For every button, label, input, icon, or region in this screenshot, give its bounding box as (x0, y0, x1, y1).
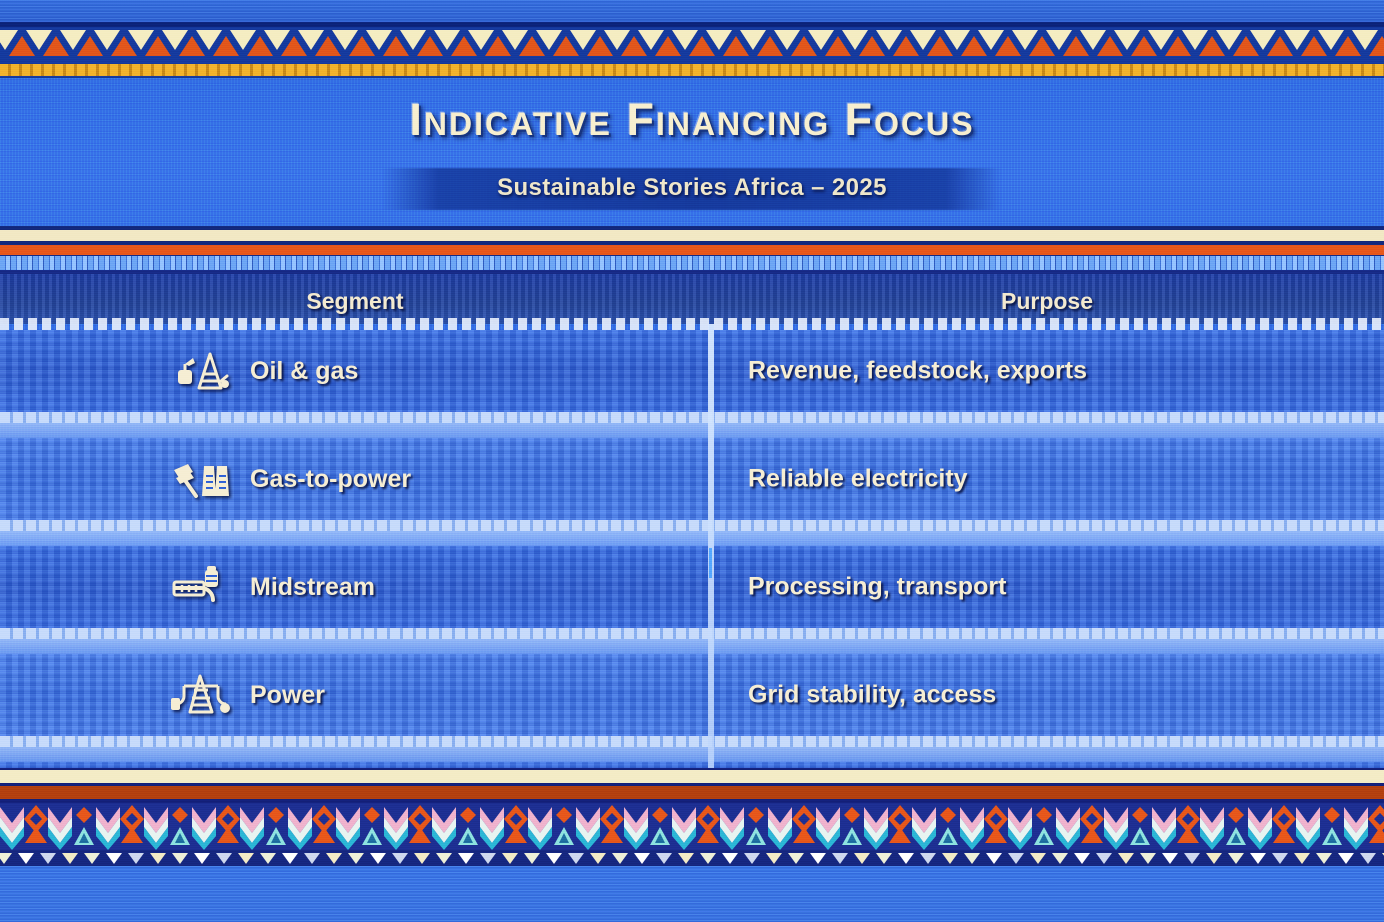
border-triangle-up (1097, 36, 1123, 56)
bottom-border-triangle (84, 853, 100, 864)
bottom-border-triangle (458, 853, 474, 864)
kente-motif (1152, 803, 1248, 850)
bottom-border-triangle (678, 853, 694, 864)
kente-motif (576, 803, 672, 850)
separator-dots (0, 628, 1384, 639)
border-triangle-up (247, 36, 273, 56)
border-triangle-up (417, 36, 443, 56)
bottom-border-triangle (1250, 853, 1266, 864)
border-triangle-up (281, 36, 307, 56)
bottom-border-triangle (832, 853, 848, 864)
bottom-border-triangle (898, 853, 914, 864)
cell-purpose: Reliable electricity (748, 465, 968, 494)
bottom-border-triangle (1008, 853, 1024, 864)
top-fabric-strip (0, 0, 1384, 22)
mid-divider-band (0, 226, 1384, 274)
bottom-border-triangle (1272, 853, 1288, 864)
bottom-border-triangle (722, 853, 738, 864)
border-triangle-up (723, 36, 749, 56)
border-triangle-up (757, 36, 783, 56)
cell-segment: Power (170, 672, 325, 718)
slide-root: Indicative Financing Focus Sustainable S… (0, 0, 1384, 922)
bottom-border-triangle (700, 853, 716, 864)
border-triangle-up (77, 36, 103, 56)
border-triangle-up (1165, 36, 1191, 56)
border-triangle-up (995, 36, 1021, 56)
border-triangle-up (1131, 36, 1157, 56)
bottom-border-triangle (370, 853, 386, 864)
column-header-segment: Segment (0, 288, 710, 315)
bottom-cream-stripe (0, 770, 1384, 783)
border-triangle-up (859, 36, 885, 56)
segment-label: Oil & gas (250, 357, 358, 386)
bottom-border-triangle (766, 853, 782, 864)
bottom-border-triangle (656, 853, 672, 864)
border-triangle-up (655, 36, 681, 56)
bottom-border-triangle (1140, 853, 1156, 864)
kente-motif (960, 803, 1056, 850)
bottom-border-triangle (634, 853, 650, 864)
border-triangle-up (1301, 36, 1327, 56)
bottom-border-triangle (150, 853, 166, 864)
border-triangle-up (1063, 36, 1089, 56)
bottom-border-triangle (326, 853, 342, 864)
financing-focus-table: Segment Purpose Oil & gas Revenue, feeds… (0, 274, 1384, 794)
bottom-decorative-border (0, 768, 1384, 866)
row-separator (0, 412, 1384, 438)
row-separator (0, 520, 1384, 546)
border-triangle-up (927, 36, 953, 56)
border-triangle-up (1267, 36, 1293, 56)
bottom-border-triangle (942, 853, 958, 864)
bottom-border-triangle (1096, 853, 1112, 864)
border-triangle-up (1335, 36, 1361, 56)
border-triangle-up (485, 36, 511, 56)
bottom-border-triangle (414, 853, 430, 864)
top-decorative-border (0, 22, 1384, 78)
cell-segment: Gas-to-power (170, 456, 411, 502)
table-row[interactable]: Power Grid stability, access (0, 654, 1384, 736)
kente-motif (384, 803, 480, 850)
divider-bead-row (0, 256, 1384, 270)
bottom-border-triangle (568, 853, 584, 864)
border-triangle-up (179, 36, 205, 56)
border-triangle-up (1233, 36, 1259, 56)
bottom-border-triangle (194, 853, 210, 864)
pipeline-icon (170, 564, 232, 610)
border-triangle-up (893, 36, 919, 56)
segment-label: Power (250, 681, 325, 710)
border-triangle-up (213, 36, 239, 56)
bottom-border-triangle (348, 853, 364, 864)
bottom-border-triangle (216, 853, 232, 864)
bottom-border-triangle (238, 853, 254, 864)
kente-motif (1248, 803, 1344, 850)
cell-purpose: Grid stability, access (748, 681, 996, 710)
bottom-border-triangle (128, 853, 144, 864)
separator-dots (0, 520, 1384, 531)
kente-motif (192, 803, 288, 850)
bottom-border-triangle (1338, 853, 1354, 864)
segment-label: Midstream (250, 573, 375, 602)
kente-motif (480, 803, 576, 850)
border-triangle-up (451, 36, 477, 56)
bottom-border-triangle (1206, 853, 1222, 864)
table-header-row: Segment Purpose (0, 274, 1384, 324)
bottom-border-triangle (546, 853, 562, 864)
bottom-border-triangle (62, 853, 78, 864)
row-separator (0, 628, 1384, 654)
bottom-border-triangle (986, 853, 1002, 864)
orange-triangle-row (0, 36, 1384, 66)
bottom-border-triangle (744, 853, 760, 864)
bottom-border-triangle (612, 853, 628, 864)
bottom-border-triangle (1360, 853, 1376, 864)
bottom-border-triangle (1118, 853, 1134, 864)
bottom-border-triangle (392, 853, 408, 864)
border-triangle-up (43, 36, 69, 56)
border-triangle-up (553, 36, 579, 56)
bottom-border-triangle (854, 853, 870, 864)
column-header-purpose: Purpose (710, 288, 1384, 315)
segment-label: Gas-to-power (250, 465, 411, 494)
kente-motif (0, 803, 96, 850)
divider-orange-stripe (0, 245, 1384, 255)
bottom-border-triangle (876, 853, 892, 864)
kente-chevron-band (0, 803, 1384, 850)
title-zone: Indicative Financing Focus Sustainable S… (0, 78, 1384, 226)
bottom-border-triangle (106, 853, 122, 864)
bottom-border-triangle (436, 853, 452, 864)
bottom-triangle-row (0, 850, 1384, 866)
bottom-border-triangle (304, 853, 320, 864)
bottom-border-triangle (1184, 853, 1200, 864)
bottom-border-triangle (590, 853, 606, 864)
bottom-border-triangle (964, 853, 980, 864)
bottom-border-triangle (282, 853, 298, 864)
border-triangle-up (689, 36, 715, 56)
bottom-border-triangle (0, 853, 12, 864)
bottom-fabric-strip (0, 866, 1384, 922)
table-row[interactable]: Gas-to-power Reliable electricity (0, 438, 1384, 520)
border-triangle-up (9, 36, 35, 56)
border-triangle-up (383, 36, 409, 56)
separator-dots (0, 412, 1384, 423)
border-triangle-up (111, 36, 137, 56)
kente-motif (96, 803, 192, 850)
bottom-border-triangle (524, 853, 540, 864)
page-subtitle: Sustainable Stories Africa – 2025 (0, 174, 1384, 202)
bottom-border-triangle (260, 853, 276, 864)
cell-segment: Oil & gas (170, 348, 358, 394)
table-row[interactable]: Midstream Processing, transport (0, 546, 1384, 628)
kente-motif (768, 803, 864, 850)
gold-dash-strip (0, 64, 1384, 76)
bottom-border-triangle (1294, 853, 1310, 864)
bottom-border-triangle (18, 853, 34, 864)
border-triangle-up (587, 36, 613, 56)
power-plant-icon (170, 456, 232, 502)
bottom-border-triangle (1228, 853, 1244, 864)
header-scallop-divider (0, 318, 1384, 330)
bottom-border-triangle (920, 853, 936, 864)
bottom-border-triangle (172, 853, 188, 864)
bottom-border-triangle (1074, 853, 1090, 864)
kente-motif (288, 803, 384, 850)
kente-motif (1056, 803, 1152, 850)
border-triangle-up (621, 36, 647, 56)
oil-derrick-icon (170, 348, 232, 394)
bottom-border-triangle (788, 853, 804, 864)
bottom-border-triangle (810, 853, 826, 864)
border-triangle-up (1029, 36, 1055, 56)
bottom-border-triangle (1162, 853, 1178, 864)
border-triangle-up (315, 36, 341, 56)
kente-motif (864, 803, 960, 850)
cell-segment: Midstream (170, 564, 375, 610)
bottom-rust-stripe (0, 786, 1384, 799)
page-title: Indicative Financing Focus (0, 94, 1384, 146)
cell-purpose: Processing, transport (748, 573, 1006, 602)
border-triangle-up (791, 36, 817, 56)
bottom-border-triangle (1030, 853, 1046, 864)
border-triangle-up (519, 36, 545, 56)
bottom-border-triangle (1052, 853, 1068, 864)
border-triangle-up (825, 36, 851, 56)
transmission-tower-icon (170, 672, 232, 718)
bottom-border-triangle (502, 853, 518, 864)
divider-cream-stripe (0, 230, 1384, 241)
bottom-border-triangle (1316, 853, 1332, 864)
bottom-border-triangle (40, 853, 56, 864)
border-triangle-up (1369, 36, 1384, 56)
kente-motif (1344, 803, 1384, 850)
column-divider-tick (709, 548, 712, 578)
border-triangle-up (349, 36, 375, 56)
row-separator (0, 736, 1384, 762)
border-triangle-up (145, 36, 171, 56)
cell-purpose: Revenue, feedstock, exports (748, 357, 1087, 386)
border-triangle-up (961, 36, 987, 56)
kente-motif (672, 803, 768, 850)
bottom-border-triangle (480, 853, 496, 864)
border-triangle-up (1199, 36, 1225, 56)
table-row[interactable]: Oil & gas Revenue, feedstock, exports (0, 330, 1384, 412)
separator-dots (0, 736, 1384, 747)
